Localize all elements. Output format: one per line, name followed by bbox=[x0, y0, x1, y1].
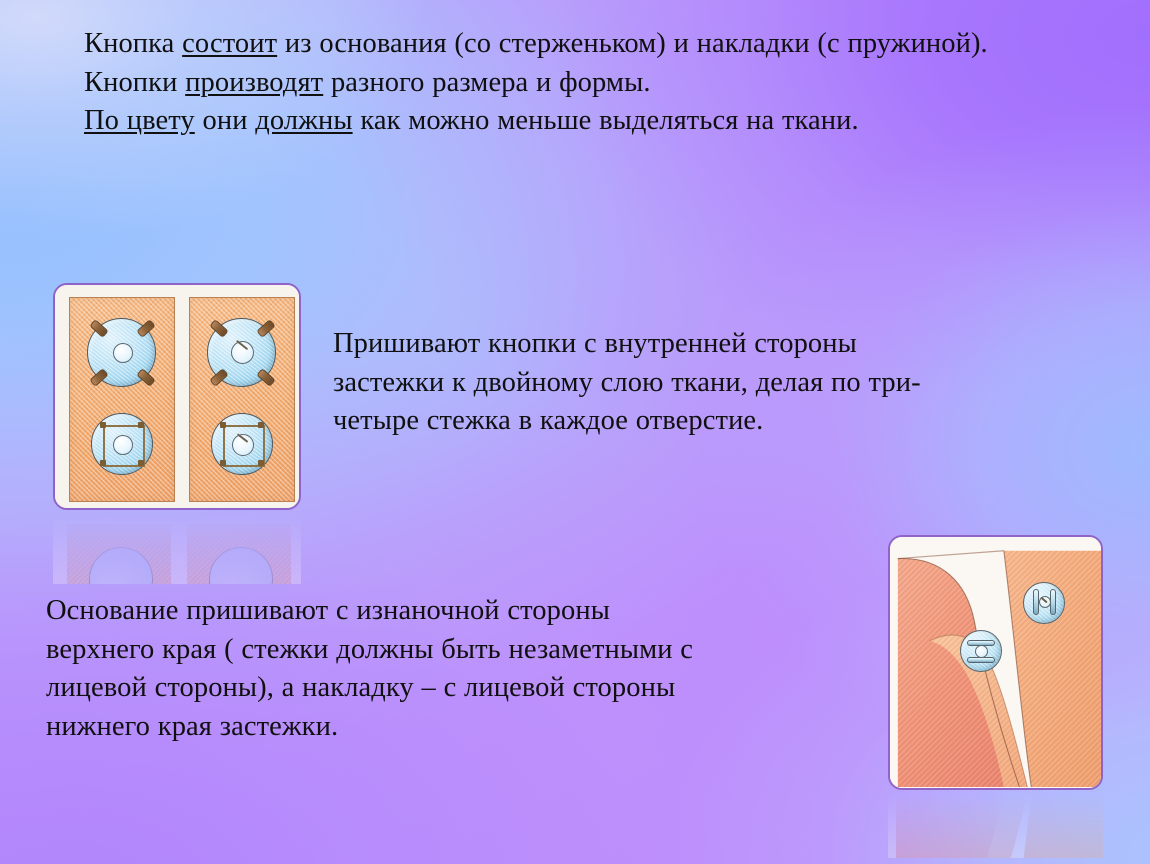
snap-stud-right bbox=[207, 318, 276, 387]
snap-center-hole bbox=[113, 435, 133, 455]
intro-sentence-3: По цвету они должны как можно меньше выд… bbox=[46, 102, 1106, 141]
intro-text-2a: Кнопки bbox=[84, 67, 185, 98]
stitch-corner bbox=[220, 460, 226, 466]
intro-text-2b: разного размера и формы. bbox=[323, 67, 650, 98]
base-line-4: нижнего края застежки. bbox=[46, 708, 866, 747]
base-line-3: лицевой стороны), а накладку – с лицевой… bbox=[46, 669, 866, 708]
paragraph-base-attachment: Основание пришивают с изнаночной стороны… bbox=[46, 592, 866, 746]
intro-underline-proizvodyat: производят bbox=[185, 67, 323, 98]
snap-square-right bbox=[211, 413, 273, 475]
intro-sentence-2: Кнопки производят разного размера и форм… bbox=[46, 64, 1106, 103]
snap-socket-on-upper-edge bbox=[1023, 582, 1065, 624]
snap-center-stud bbox=[975, 645, 988, 658]
stitch-corner bbox=[220, 422, 226, 428]
garment-image-content bbox=[890, 537, 1101, 788]
stitch-corner bbox=[258, 422, 264, 428]
sewing-line-1: Пришивают кнопки с внутренней стороны bbox=[333, 325, 1105, 364]
reflection-garment-image bbox=[888, 792, 1103, 858]
slide-canvas: Кнопка состоит из основания (со стержень… bbox=[0, 0, 1150, 864]
stitch-mark bbox=[136, 368, 155, 387]
intro-underline-pocvetu: По цвету bbox=[84, 105, 195, 136]
stitch-corner bbox=[100, 422, 106, 428]
intro-underline-dolzhny: должны bbox=[255, 105, 352, 136]
intro-text-3a: они bbox=[195, 105, 256, 136]
reflection-snaps-image bbox=[53, 512, 301, 584]
stitch-corner bbox=[258, 460, 264, 466]
base-line-1: Основание пришивают с изнаночной стороны bbox=[46, 592, 866, 631]
sewing-line-3: четыре стежка в каждое отверстие. bbox=[333, 402, 1105, 441]
intro-sentence-1: Кнопка состоит из основания (со стержень… bbox=[46, 25, 1106, 64]
paragraph-intro: Кнопка состоит из основания (со стержень… bbox=[46, 25, 1106, 141]
intro-underline-sostoit: состоит bbox=[182, 28, 277, 59]
snap-socket-left bbox=[87, 318, 156, 387]
image-snaps-on-fabric bbox=[53, 283, 301, 510]
intro-text-1b: из основания (со стерженьком) и накладки… bbox=[277, 28, 988, 59]
snap-stud-on-facing bbox=[960, 630, 1002, 672]
base-line-2: верхнего края ( стежки должны быть незам… bbox=[46, 631, 866, 670]
intro-text-3b: как можно меньше выделяться на ткани. bbox=[353, 105, 859, 136]
snap-center-hole bbox=[113, 343, 133, 363]
garment-top-edge bbox=[898, 551, 1004, 559]
stitch-corner bbox=[100, 460, 106, 466]
paragraph-sewing-instructions: Пришивают кнопки с внутренней стороны за… bbox=[333, 325, 1105, 441]
stitch-corner bbox=[138, 460, 144, 466]
stitch-mark bbox=[256, 368, 275, 387]
snap-square-left bbox=[91, 413, 153, 475]
stitch-corner bbox=[138, 422, 144, 428]
intro-text-1a: Кнопка bbox=[84, 28, 182, 59]
snaps-image-content bbox=[55, 285, 299, 508]
sewing-line-2: застежки к двойному слою ткани, делая по… bbox=[333, 364, 1105, 403]
image-garment-snaps bbox=[888, 535, 1103, 790]
